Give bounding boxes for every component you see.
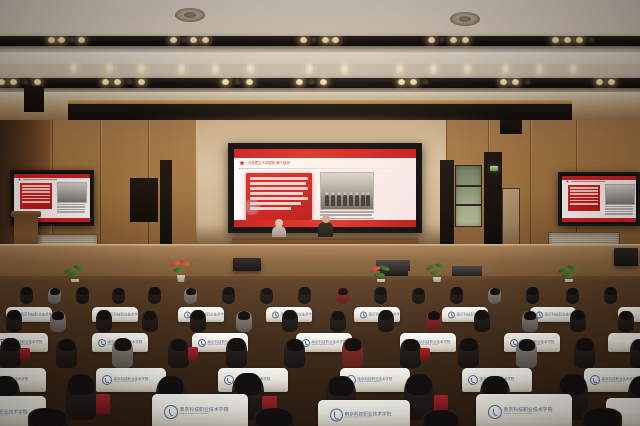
side-door[interactable] xyxy=(502,188,520,249)
slide-historical-photo xyxy=(605,184,635,205)
wall-speaker xyxy=(24,86,44,112)
slide-title-line xyxy=(571,181,605,183)
doorway-dark xyxy=(440,160,454,246)
ceiling-downlight-icon xyxy=(210,63,221,76)
ceiling-downlight-icon xyxy=(339,63,350,76)
ceiling-downlight-icon xyxy=(500,63,511,76)
ceiling-downlight-icon xyxy=(534,63,545,76)
slide-title: 马克思主义中国化“两个结合” xyxy=(248,161,291,166)
auditorium-scene: 马克思主义中国化“两个结合” xyxy=(0,0,640,426)
red-star-icon xyxy=(239,160,245,166)
red-star-icon xyxy=(566,180,569,183)
slide-red-callout-card xyxy=(568,185,600,211)
ceiling-soffit xyxy=(0,52,640,64)
callout-line xyxy=(250,177,308,180)
ceiling-downlight-icon xyxy=(568,63,579,76)
stage-monitor-speaker xyxy=(614,248,638,266)
ceiling-downlight-icon xyxy=(304,63,315,76)
callout-line xyxy=(250,197,308,200)
red-star-icon xyxy=(18,178,21,181)
ceiling-downlight-icon xyxy=(462,63,473,76)
ceiling-vent-icon xyxy=(450,12,480,26)
stage-monitor-speaker xyxy=(233,258,261,271)
slide-historical-photo xyxy=(57,182,87,203)
slide-body-text xyxy=(57,204,85,214)
ceiling-downlight-icon xyxy=(428,63,439,76)
left-doorway-dark xyxy=(130,178,158,222)
attendee xyxy=(28,408,68,426)
slide-historical-photo xyxy=(320,172,374,210)
projector-unit xyxy=(452,266,482,276)
decorative-plant xyxy=(168,258,194,284)
side-tv-right[interactable] xyxy=(558,172,640,226)
callout-line xyxy=(250,187,308,190)
wall-speaker xyxy=(500,120,522,134)
slide-top-accent xyxy=(234,149,416,158)
slide-title-row: 马克思主义中国化“两个结合” xyxy=(239,159,411,167)
slide-red-callout-card xyxy=(20,183,52,209)
ceiling-downlight-icon xyxy=(394,63,405,76)
exterior-window xyxy=(455,165,482,227)
ceiling-downlight-icon xyxy=(104,62,115,75)
slide-body-text xyxy=(605,206,633,216)
attendee xyxy=(254,408,294,426)
ceiling-light-beam xyxy=(0,78,640,88)
slide-watermark xyxy=(244,199,260,215)
callout-line xyxy=(250,182,306,185)
ceiling-light-beam xyxy=(0,36,640,46)
ceiling-downlight-icon xyxy=(136,63,147,76)
audience-area: 南京科技职业技术学院 南京科技职业技术学院 南京科技职业技术学院 南京科技职业技… xyxy=(0,282,640,426)
left-doorway-dark xyxy=(160,160,172,246)
attendee xyxy=(422,410,460,426)
ceiling-vent-icon xyxy=(175,8,205,22)
ceiling-downlight-icon xyxy=(68,62,79,75)
slide-divider xyxy=(239,168,411,169)
side-tv-right-slide xyxy=(562,176,636,222)
ceiling-downlight-icon xyxy=(245,63,256,76)
exit-sign-icon xyxy=(490,166,498,171)
ceiling-downlight-icon xyxy=(176,63,187,76)
seat-row xyxy=(0,408,640,426)
slide-title-line xyxy=(23,179,57,181)
attendee xyxy=(582,408,622,426)
callout-line xyxy=(250,192,303,195)
